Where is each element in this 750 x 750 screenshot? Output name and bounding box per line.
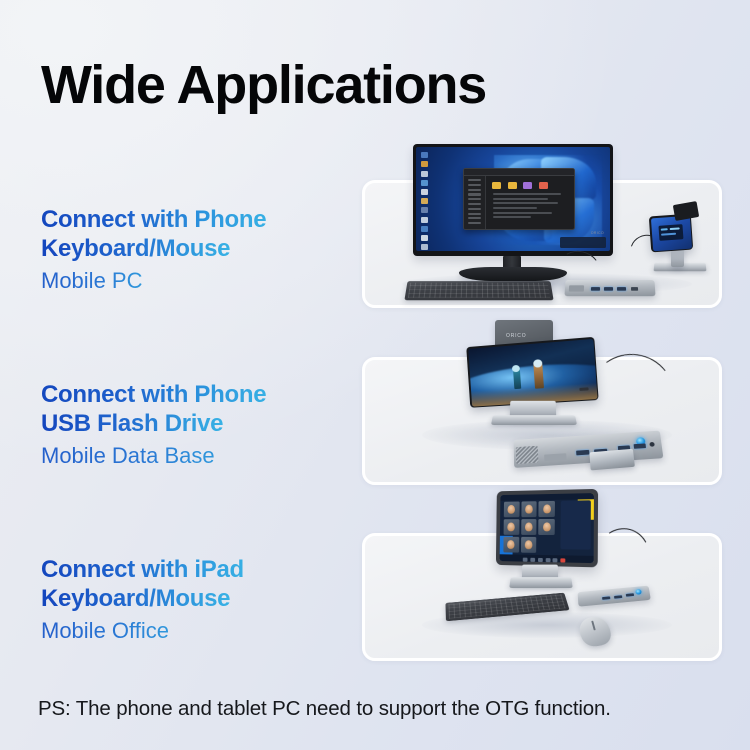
phone-stand-neck: [671, 247, 684, 267]
phone-screen: [468, 338, 597, 406]
application-copy-3: Connect with iPad Keyboard/Mouse Mobile …: [41, 555, 361, 645]
application-1-headline-line-2: Keyboard/Mouse: [41, 234, 230, 263]
usb-port: [617, 287, 626, 290]
application-1-headline-line-1: Connect with Phone: [41, 205, 266, 234]
participant-tile: [521, 519, 537, 535]
ipad-stand-base: [509, 577, 573, 588]
ipad: [496, 489, 598, 567]
astronaut-right: [533, 362, 544, 390]
power-led: [635, 589, 642, 595]
application-3-headline-line-2: Keyboard/Mouse: [41, 584, 230, 613]
sd-card-slot: [569, 285, 584, 291]
folder-icon: [508, 182, 517, 189]
usb-port: [576, 450, 589, 455]
scene-shadow: [422, 612, 672, 638]
phone: [649, 214, 693, 253]
folder-icons: [489, 180, 571, 193]
participant-tile: [521, 537, 537, 553]
application-2-headline-line-2: USB Flash Drive: [41, 409, 223, 438]
astronaut-left-helmet: [512, 364, 520, 372]
ipad-screen: [500, 493, 594, 563]
usb-port: [594, 449, 607, 454]
application-3-photo-card: [362, 533, 722, 661]
astronaut-left: [513, 367, 521, 389]
stand-back-plate: ORICO: [495, 320, 553, 352]
footnote: PS: The phone and tablet PC need to supp…: [38, 697, 611, 721]
monitor-stand-neck: [503, 256, 521, 272]
folder-icon: [539, 182, 548, 189]
dock-vent: [516, 446, 539, 464]
usb-c-dock: [578, 586, 651, 607]
ipad-stand-arm: [522, 565, 558, 582]
scene-monitor-desktop: ORICO: [362, 131, 722, 311]
scene-ipad-office: [362, 484, 722, 664]
application-1-photo-card: ORICO: [362, 180, 722, 308]
application-3-headline-line-1: Connect with iPad: [41, 555, 244, 584]
screen-hud: [579, 388, 588, 392]
usb-port: [604, 287, 613, 290]
usb-port: [614, 595, 622, 598]
application-3-subtitle: Mobile Office: [41, 616, 169, 645]
participant-tile: [539, 519, 555, 535]
phone-screen: [650, 215, 691, 251]
taskbar-widget: [560, 237, 606, 248]
phone: [466, 337, 598, 408]
phone-stand-arm: [510, 401, 557, 420]
scene-phone-dock-usb: ORICO: [362, 308, 722, 488]
file-explorer-titlebar: [464, 169, 575, 176]
file-explorer-window: [463, 168, 576, 230]
file-explorer-sidebar: [464, 176, 486, 229]
monitor-stand-base: [459, 267, 567, 281]
app-topbar: [500, 493, 594, 501]
mouse: [577, 615, 614, 648]
usb-c-dock: [564, 280, 655, 296]
usb-port: [591, 287, 600, 290]
usb-port: [618, 445, 630, 450]
brand-logo: ORICO: [506, 333, 526, 339]
participant-tile: [521, 502, 537, 518]
application-2-headline-line-1: Connect with Phone: [41, 380, 266, 409]
windows-wallpaper-bloom: [494, 155, 603, 244]
astronaut-right-helmet: [533, 359, 542, 368]
participant-tile: [503, 537, 519, 553]
hdmi-cable: [555, 247, 604, 291]
monitor-watermark: ORICO: [591, 231, 604, 235]
video-conference-app: [500, 493, 594, 563]
phone-stand-clip: [673, 201, 699, 221]
usb-c-cable: [585, 349, 679, 440]
phone-stand-base: [491, 415, 577, 425]
hdmi-port: [631, 287, 638, 290]
folder-icon: [492, 182, 501, 189]
phone-cable: [625, 229, 667, 271]
keyboard: [445, 593, 569, 622]
terrain: [471, 383, 597, 406]
application-1-subtitle: Mobile PC: [41, 266, 142, 295]
desktop-icons: [421, 152, 432, 251]
sd-card-slot: [544, 453, 566, 461]
monitor: ORICO: [413, 144, 613, 256]
usb-port: [602, 596, 610, 599]
scene-shadow: [402, 273, 692, 295]
application-2-photo-card: ORICO: [362, 357, 722, 485]
power-led: [636, 437, 646, 446]
folder-icon: [523, 182, 532, 189]
accent-block-blue: [500, 536, 513, 557]
earth-graphic: [468, 358, 597, 406]
application-2-subtitle: Mobile Data Base: [41, 441, 215, 470]
keyboard: [404, 281, 553, 300]
participant-tile: [504, 502, 520, 518]
application-copy-2: Connect with Phone USB Flash Drive Mobil…: [41, 380, 361, 470]
participant-tile: [503, 520, 519, 536]
monitor-screen: ORICO: [416, 147, 610, 251]
usb-c-cable: [587, 522, 657, 598]
usb-port: [634, 443, 646, 448]
participant-grid: [503, 501, 555, 553]
phone-stand-base: [654, 263, 707, 271]
usb-port: [626, 593, 634, 596]
usb-flash-drive: [589, 449, 634, 471]
app-toolbar: [500, 554, 594, 563]
file-explorer-content: [486, 176, 574, 229]
participant-tile: [539, 501, 555, 517]
chat-panel: [560, 501, 590, 550]
usb-c-dock: [514, 431, 664, 468]
audio-jack: [649, 442, 655, 447]
accent-block-yellow: [577, 493, 594, 520]
page-title: Wide Applications: [41, 58, 486, 112]
scene-shadow: [422, 420, 672, 450]
application-copy-1: Connect with Phone Keyboard/Mouse Mobile…: [41, 205, 361, 295]
